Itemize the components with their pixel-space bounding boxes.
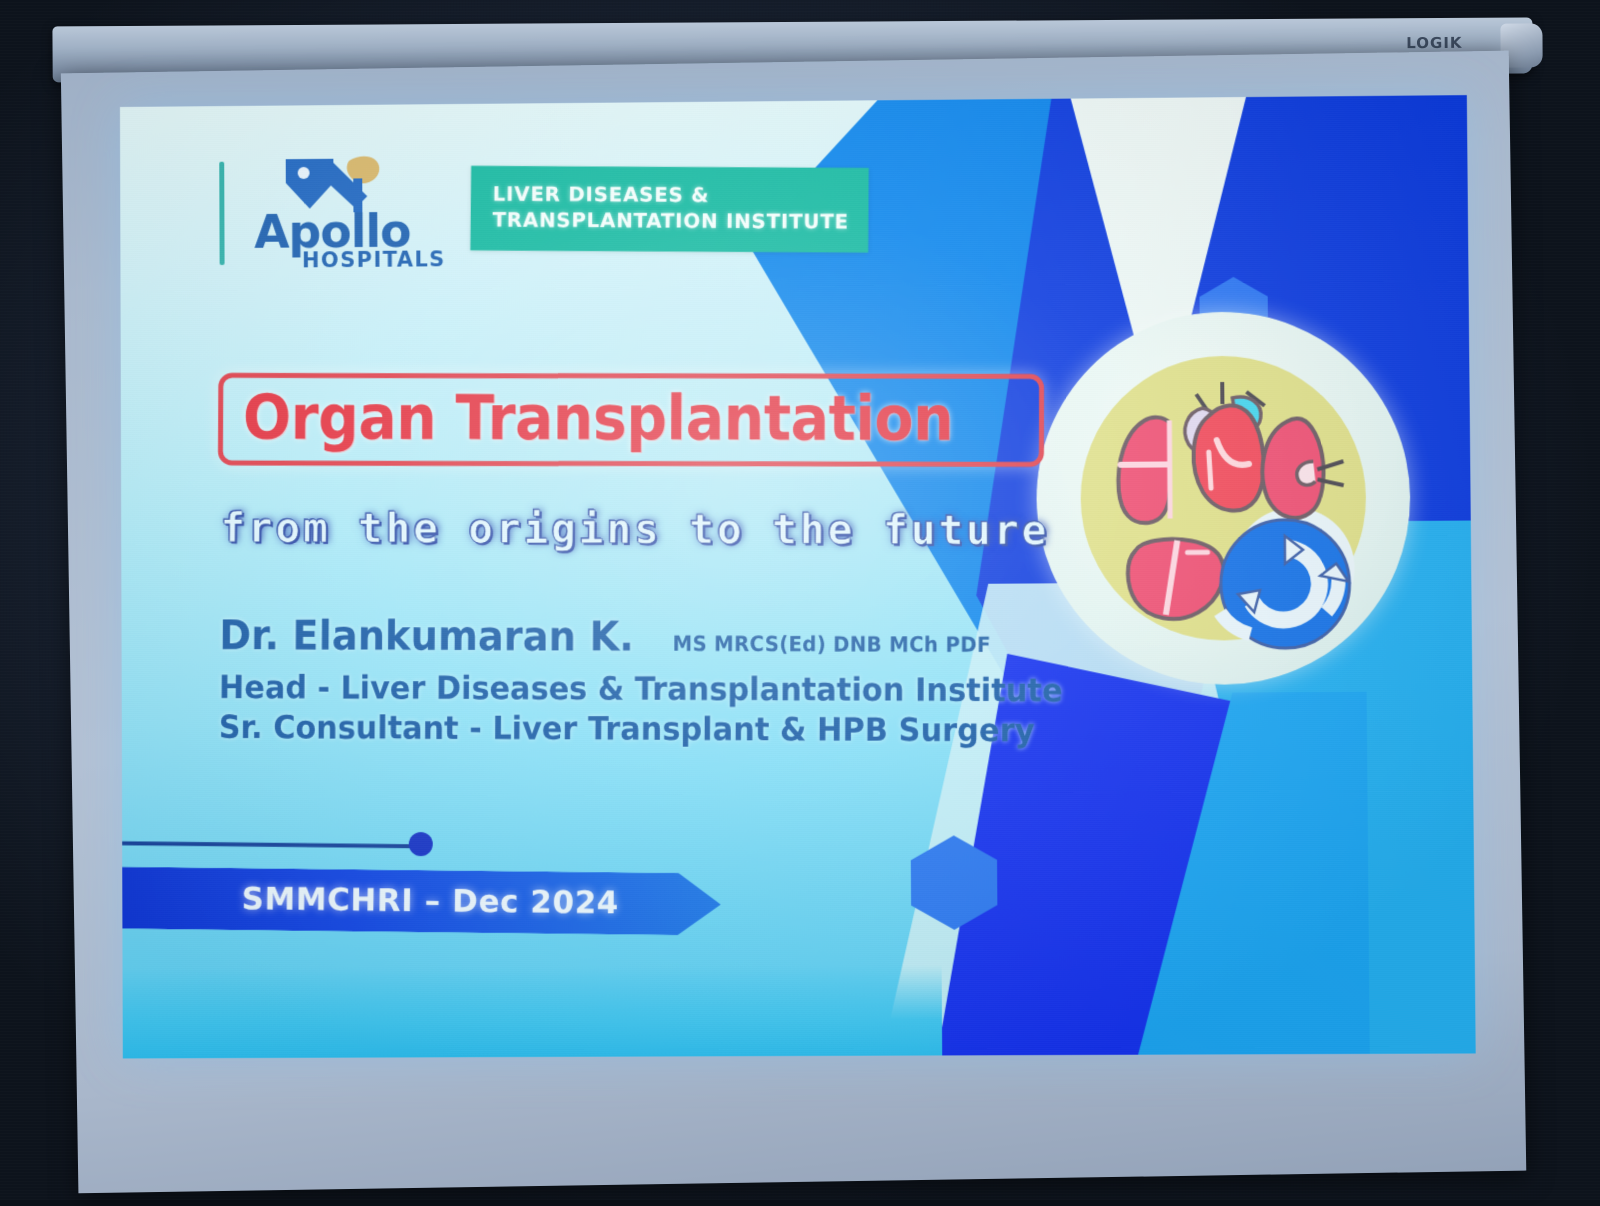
recycle-arrows-icon [1219, 519, 1350, 648]
presenter-role-line-1: Head - Liver Diseases & Transplantation … [219, 667, 1063, 710]
liver-icon [1128, 539, 1224, 619]
apollo-sub-wordmark: HOSPITALS [302, 247, 446, 272]
accent-dot [409, 832, 433, 856]
institute-banner: LIVER DISEASES & TRANSPLANTATION INSTITU… [470, 166, 869, 253]
projector-screen-assembly: LOGIK [38, 2, 1556, 1205]
brand-logo-row: Apollo HOSPITALS LIVER DISEASES & TRANSP… [219, 152, 869, 269]
footer-banner: SMMCHRI – Dec 2024 [120, 867, 721, 936]
apollo-hospitals-logo: Apollo HOSPITALS [252, 156, 447, 269]
presenter-block: Dr. Elankumaran K. MS MRCS(Ed) DNB MCh P… [219, 611, 1108, 750]
decor-bottom-strip [123, 965, 943, 1058]
page-title: Organ Transplantation [243, 386, 954, 450]
presenter-name-row: Dr. Elankumaran K. MS MRCS(Ed) DNB MCh P… [219, 611, 1107, 662]
presenter-role-line-2: Sr. Consultant - Liver Transplant & HPB … [219, 707, 1063, 751]
presenter-credentials: MS MRCS(Ed) DNB MCh PDF [672, 632, 990, 657]
logo-divider [219, 162, 224, 265]
presentation-slide: Apollo HOSPITALS LIVER DISEASES & TRANSP… [120, 95, 1476, 1058]
slide-title-box: Organ Transplantation [218, 373, 1045, 467]
roller-brand-label: LOGIK [1406, 34, 1462, 52]
projector-screen-fabric: Apollo HOSPITALS LIVER DISEASES & TRANSP… [61, 51, 1526, 1194]
footer-text: SMMCHRI – Dec 2024 [242, 881, 620, 921]
institute-banner-line1: LIVER DISEASES & [493, 182, 850, 209]
slide-subtitle: from the origins to the future [220, 504, 1049, 554]
presenter-name: Dr. Elankumaran K. [219, 611, 634, 660]
institute-banner-line2: TRANSPLANTATION INSTITUTE [492, 208, 849, 236]
lung-icon [1118, 417, 1170, 523]
kidney-icon [1262, 418, 1344, 518]
heart-icon [1185, 382, 1266, 511]
accent-rule [122, 841, 421, 848]
